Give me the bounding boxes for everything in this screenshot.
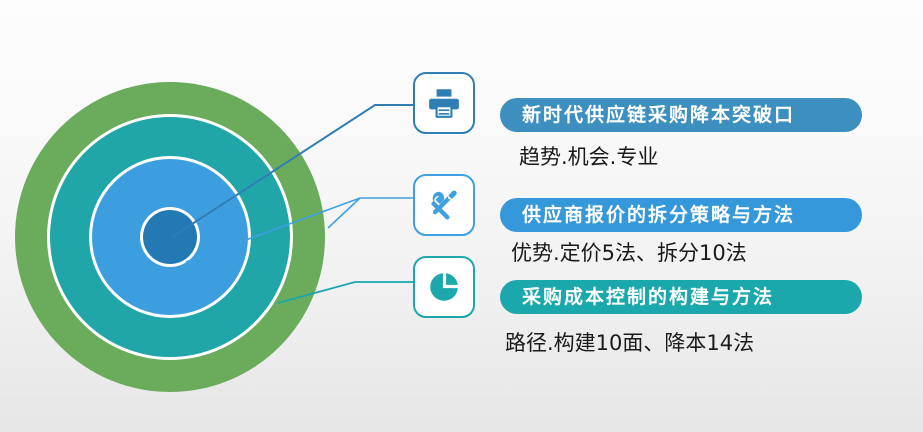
bullseye-dark-blue: [143, 210, 197, 264]
item-2-title: 供应商报价的拆分策略与方法: [522, 206, 795, 225]
item-2-subtitle: 优势.定价5法、拆分10法: [511, 243, 747, 264]
infographic-slide: 新时代供应链采购降本突破口 趋势.机会.专业 供应商报价的拆分策略与方法 优势.…: [0, 0, 923, 432]
title-bar-item-1[interactable]: 新时代供应链采购降本突破口: [500, 98, 862, 132]
item-1-title: 新时代供应链采购降本突破口: [522, 106, 795, 125]
title-bar-item-3[interactable]: 采购成本控制的构建与方法: [500, 280, 862, 314]
wrench-screwdriver-icon: [427, 188, 461, 222]
title-bar-item-2[interactable]: 供应商报价的拆分策略与方法: [500, 198, 862, 232]
icon-box-item-2[interactable]: [413, 174, 475, 236]
item-1-subtitle: 趋势.机会.专业: [519, 147, 658, 168]
target-rings-graphic: [0, 0, 400, 432]
printer-icon: [427, 86, 461, 120]
icon-box-item-1[interactable]: [413, 72, 475, 134]
icon-box-item-3[interactable]: [413, 256, 475, 318]
pie-chart-icon: [427, 270, 461, 304]
item-3-title: 采购成本控制的构建与方法: [522, 288, 774, 307]
item-3-subtitle: 路径.构建10面、降本14法: [505, 333, 754, 354]
